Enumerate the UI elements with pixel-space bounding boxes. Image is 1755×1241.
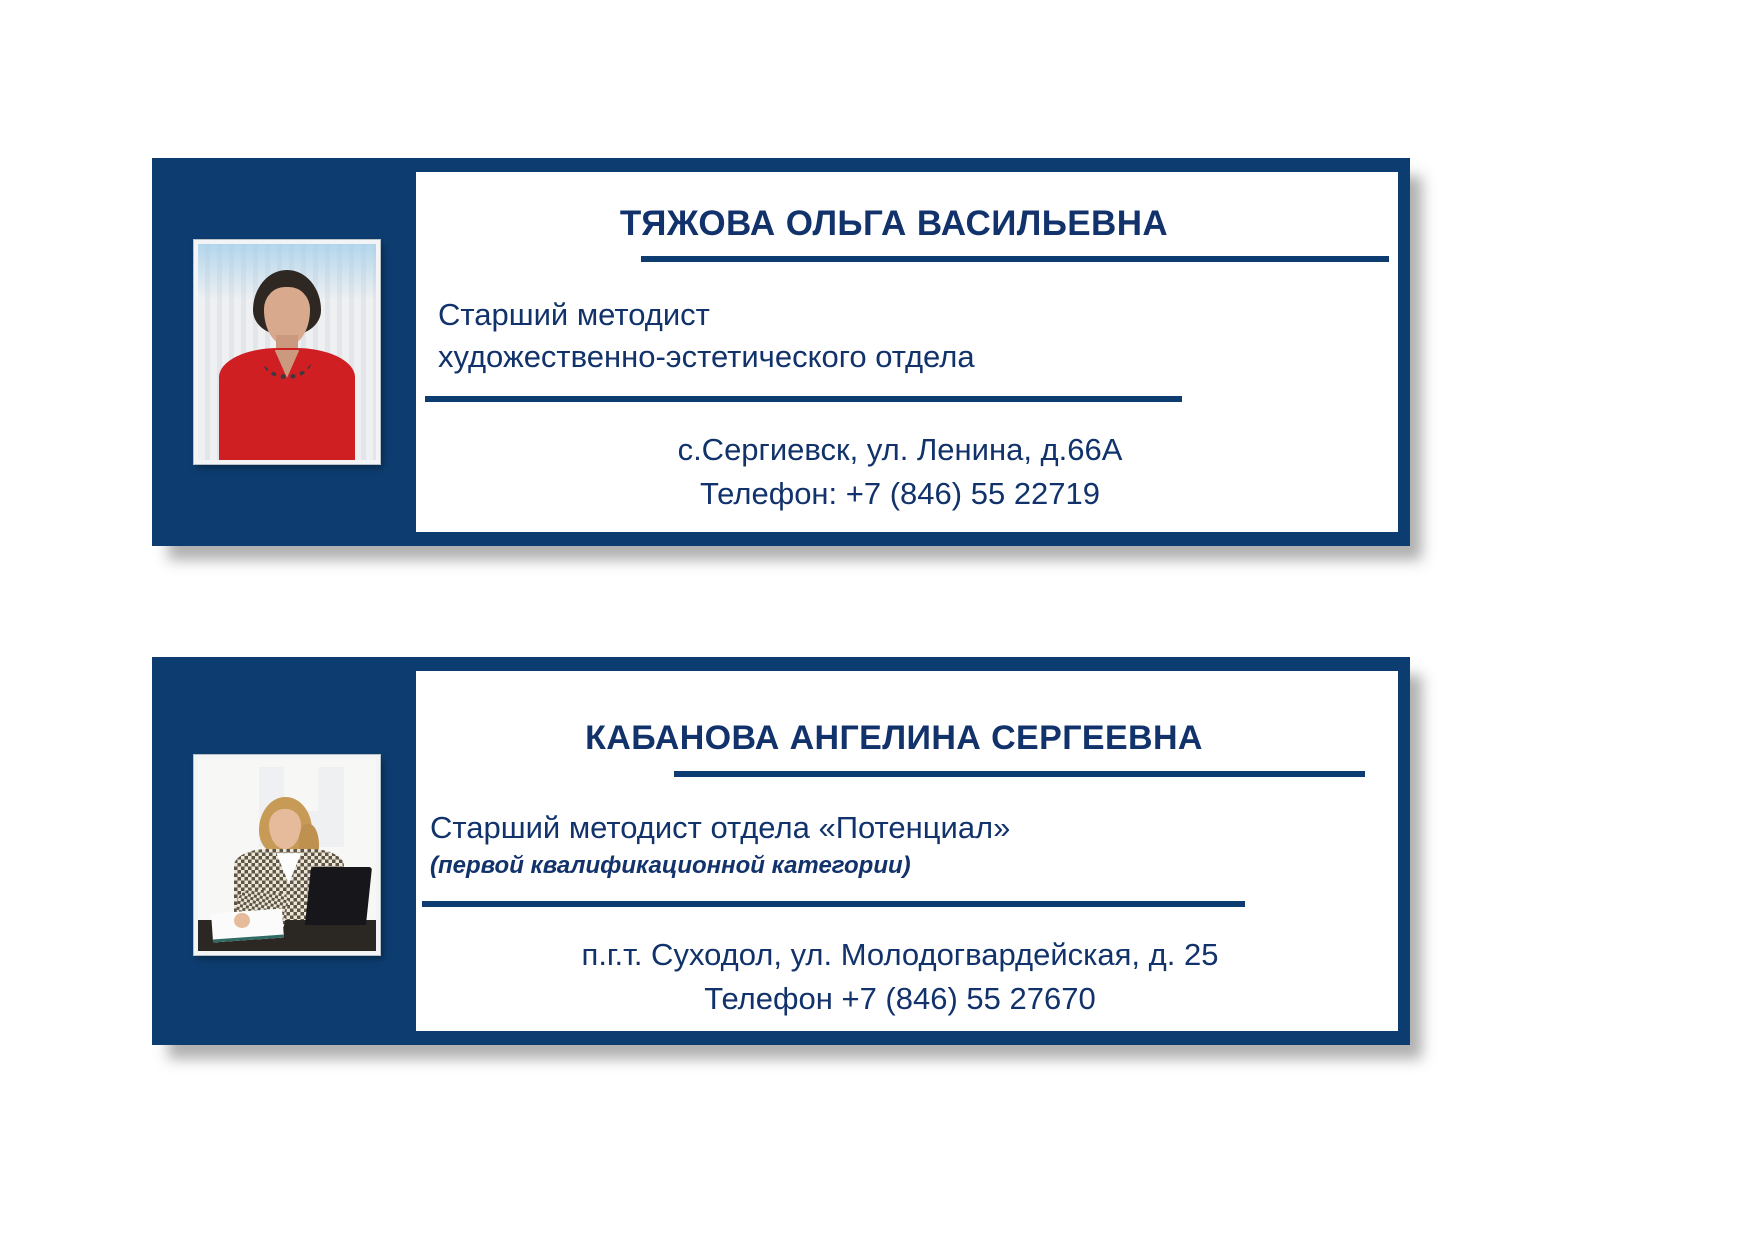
divider-top-1 <box>641 256 1389 262</box>
photo-frame-2 <box>194 755 380 955</box>
person-name-1: ТЯЖОВА ОЛЬГА ВАСИЛЬЕВНА <box>416 204 1372 244</box>
person-card-1: ТЯЖОВА ОЛЬГА ВАСИЛЬЕВНА Старший методист… <box>152 158 1410 546</box>
person-card-2: КАБАНОВА АНГЕЛИНА СЕРГЕЕВНА Старший мето… <box>152 657 1410 1045</box>
divider-top-2 <box>674 771 1365 777</box>
address-2: п.г.т. Суходол, ул. Молодогвардейская, д… <box>416 933 1384 977</box>
person-role-1: Старший методист художественно-эстетичес… <box>438 294 975 378</box>
slide-canvas: ТЯЖОВА ОЛЬГА ВАСИЛЬЕВНА Старший методист… <box>0 0 1755 1241</box>
person-contacts-1: с.Сергиевск, ул. Ленина, д.66А Телефон: … <box>416 428 1384 516</box>
photo-tyazhova <box>198 244 376 460</box>
divider-mid-2 <box>422 901 1245 907</box>
card-1-content-panel: ТЯЖОВА ОЛЬГА ВАСИЛЬЕВНА Старший методист… <box>416 172 1398 532</box>
photo-frame-1 <box>194 240 380 464</box>
phone-1: Телефон: +7 (846) 55 22719 <box>416 472 1384 516</box>
role-line-2: (первой квалификационной категории) <box>430 851 1010 881</box>
photo-kabanova <box>198 759 376 951</box>
phone-2: Телефон +7 (846) 55 27670 <box>416 977 1384 1021</box>
card-2-content-panel: КАБАНОВА АНГЕЛИНА СЕРГЕЕВНА Старший мето… <box>416 671 1398 1031</box>
role-line-1: Старший методист отдела «Потенциал» <box>430 810 1010 845</box>
divider-mid-1 <box>425 396 1182 402</box>
person-contacts-2: п.г.т. Суходол, ул. Молодогвардейская, д… <box>416 933 1384 1021</box>
role-line-2: художественно-эстетического отдела <box>438 339 975 374</box>
role-line-1: Старший методист <box>438 297 710 332</box>
address-1: с.Сергиевск, ул. Ленина, д.66А <box>416 428 1384 472</box>
person-name-2: КАБАНОВА АНГЕЛИНА СЕРГЕЕВНА <box>416 719 1372 758</box>
person-role-2: Старший методист отдела «Потенциал» (пер… <box>430 807 1010 881</box>
